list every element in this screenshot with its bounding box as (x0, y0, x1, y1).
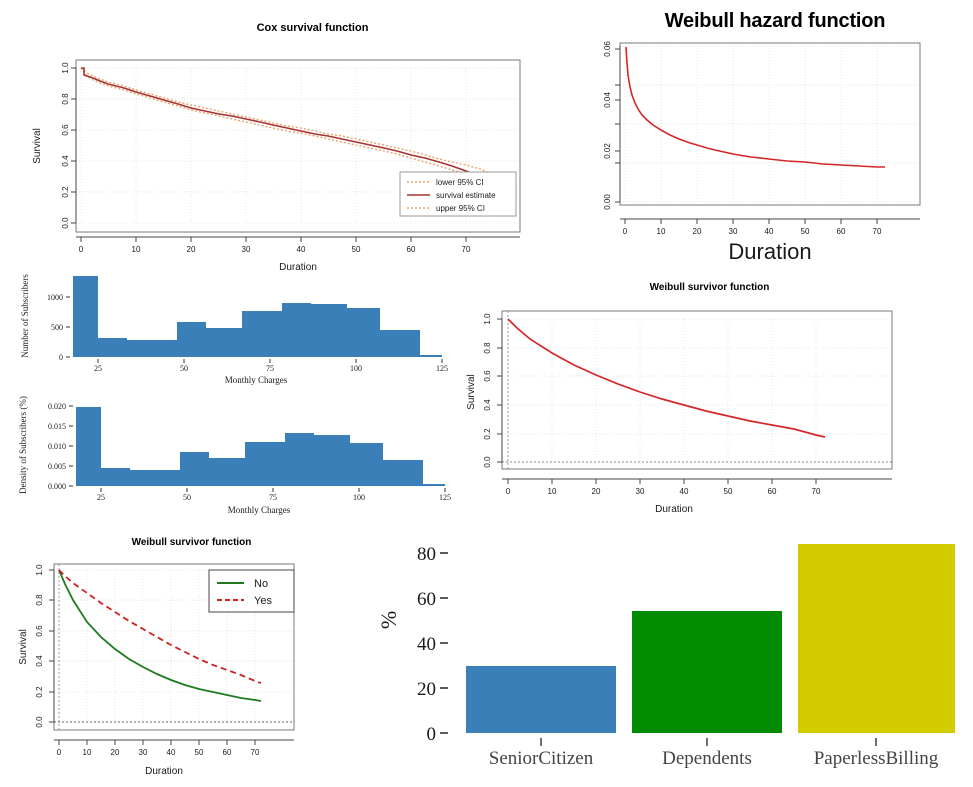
weibull-hazard-title: Weibull hazard function (580, 10, 970, 33)
hist-bar (282, 303, 311, 357)
hist-count-y-axis: 1000 500 0 (47, 293, 70, 362)
panel-cox-survival: Cox survival function lo (60, 14, 565, 279)
weibull-survivor-line (508, 319, 825, 437)
cox-y-axis: 0.0 0.2 0.4 0.6 0.8 1.0 (61, 62, 76, 229)
panel-weibull-survivor-groups: Weibull survivor function No (14, 533, 369, 783)
survivor-xtick-6: 60 (768, 487, 777, 496)
cox-ytick-1: 0.2 (61, 186, 70, 198)
cox-xtick-0: 0 (79, 245, 84, 254)
percent-bar-ylabel: % (376, 611, 401, 629)
survivor-y-axis: 0.0 0.2 0.4 0.6 0.8 1.0 (483, 313, 502, 468)
hazard-gridlines (620, 45, 920, 202)
survivor-xtick-7: 70 (812, 487, 821, 496)
cox-xtick-2: 20 (187, 245, 196, 254)
panel-hist-count: Number of Subscribers 1000 500 0 25 (16, 264, 446, 386)
hist-count-ytick-1: 500 (51, 323, 63, 332)
weibull-survivor-plot: 0.0 0.2 0.4 0.6 0.8 1.0 Survival 0 10 20… (452, 297, 967, 519)
hist-density-xtick-0: 25 (97, 493, 105, 502)
groups-legend-label-0: No (254, 578, 268, 590)
groups-ylabel: Survival (18, 629, 29, 665)
hist-bar (98, 338, 127, 357)
survivor-xtick-3: 30 (636, 487, 645, 496)
hist-count-xtick-3: 100 (350, 364, 362, 373)
cox-xtick-3: 30 (242, 245, 251, 254)
groups-xtick-6: 60 (223, 748, 232, 757)
hazard-xtick-4: 40 (765, 227, 774, 236)
hist-density-xtick-4: 125 (439, 493, 451, 502)
hist-density-ytick-3: 0.015 (48, 422, 66, 431)
cox-legend-label-1: survival estimate (436, 191, 496, 200)
hist-bar (314, 435, 350, 486)
bar-dependents (632, 611, 782, 733)
hazard-xtick-1: 10 (657, 227, 666, 236)
hazard-ytick-2: 0.04 (603, 92, 612, 108)
groups-legend: No Yes (209, 570, 294, 612)
survivor-plot-frame (502, 311, 892, 469)
hist-bar (209, 458, 245, 486)
cox-xtick-4: 40 (297, 245, 306, 254)
hazard-x-axis: 0 10 20 30 40 50 60 70 (620, 219, 920, 236)
hist-density-xtick-3: 100 (353, 493, 365, 502)
cox-survival-estimate-line (81, 68, 490, 178)
groups-ytick-2: 0.4 (35, 655, 44, 667)
hist-density-x-axis: 25 50 75 100 125 (97, 488, 451, 502)
percent-bar-y-axis: 80 60 40 20 0 (417, 544, 448, 745)
percent-cat-1: Dependents (662, 748, 752, 769)
hazard-ytick-3: 0.06 (603, 41, 612, 57)
groups-ytick-3: 0.6 (35, 625, 44, 637)
cox-ylabel: Survival (32, 128, 43, 164)
hist-density-plot: Density of Subscribers (%) 0.020 0.015 0… (16, 390, 446, 516)
hist-density-xlabel: Monthly Charges (228, 505, 291, 515)
percent-cat-0: SeniorCitizen (489, 748, 594, 769)
cox-ytick-2: 0.4 (61, 155, 70, 167)
hist-count-xtick-1: 50 (180, 364, 188, 373)
groups-xtick-7: 70 (251, 748, 260, 757)
hist-count-xtick-4: 125 (436, 364, 448, 373)
survivor-x-axis: 0 10 20 30 40 50 60 70 (502, 479, 892, 496)
groups-ytick-5: 1.0 (35, 564, 44, 576)
panel-weibull-hazard: Weibull hazard function 0.00 0.02 0.04 (580, 8, 970, 270)
hazard-y-axis: 0.00 0.02 0.04 0.06 (603, 41, 620, 210)
survivor-ytick-5: 1.0 (483, 313, 492, 325)
weibull-hazard-plot: 0.00 0.02 0.04 0.06 0 10 20 30 40 50 60 … (580, 37, 970, 262)
groups-xtick-2: 20 (111, 748, 120, 757)
hist-bar (177, 322, 206, 357)
hazard-xtick-6: 60 (837, 227, 846, 236)
cox-legend-label-2: upper 95% CI (436, 204, 485, 213)
cox-survival-plot: lower 95% CI survival estimate upper 95%… (60, 38, 565, 273)
hazard-ytick-1: 0.02 (603, 143, 612, 159)
percent-ytick-3: 60 (417, 589, 436, 610)
cox-x-axis: 0 10 20 30 40 50 60 70 (76, 237, 520, 254)
hist-count-ytick-2: 1000 (47, 293, 63, 302)
survivor-xlabel: Duration (655, 504, 693, 515)
percent-ytick-4: 80 (417, 544, 436, 565)
percent-ytick-1: 20 (417, 679, 436, 700)
hist-bar (245, 442, 285, 486)
survivor-ytick-4: 0.8 (483, 342, 492, 354)
cox-xtick-5: 50 (352, 245, 361, 254)
cox-upper-ci-line (81, 68, 490, 173)
cox-legend: lower 95% CI survival estimate upper 95%… (400, 172, 516, 216)
hazard-xtick-2: 20 (693, 227, 702, 236)
hazard-xtick-3: 30 (729, 227, 738, 236)
groups-xtick-4: 40 (167, 748, 176, 757)
survivor-xtick-5: 50 (724, 487, 733, 496)
cox-xtick-7: 70 (462, 245, 471, 254)
percent-bars (466, 544, 955, 733)
hist-bar (285, 433, 314, 486)
hist-count-xtick-2: 75 (266, 364, 274, 373)
hist-bar (130, 470, 166, 486)
groups-legend-label-1: Yes (254, 595, 272, 607)
hist-density-ytick-1: 0.005 (48, 462, 66, 471)
groups-xlabel: Duration (145, 766, 183, 777)
hist-bar (163, 340, 177, 357)
groups-x-axis: 0 10 20 30 40 50 60 70 (54, 740, 294, 757)
cox-legend-label-0: lower 95% CI (436, 178, 484, 187)
panel-hist-density: Density of Subscribers (%) 0.020 0.015 0… (16, 390, 446, 516)
groups-ytick-1: 0.2 (35, 686, 44, 698)
groups-ytick-4: 0.8 (35, 594, 44, 606)
cox-xtick-6: 60 (407, 245, 416, 254)
hist-density-ytick-2: 0.010 (48, 442, 66, 451)
hist-bar (347, 308, 380, 357)
survivor-gridlines (502, 319, 892, 462)
hist-density-y-axis: 0.020 0.015 0.010 0.005 0.000 (48, 402, 73, 491)
hist-bar (101, 468, 130, 486)
hist-count-x-axis: 25 50 75 100 125 (94, 359, 448, 373)
hist-count-ylabel: Number of Subscribers (20, 274, 30, 358)
hist-bar (350, 443, 383, 486)
bar-senior-citizen (466, 666, 616, 733)
hist-bar (76, 407, 101, 486)
hist-count-ytick-0: 0 (59, 353, 63, 362)
hist-bar (383, 460, 423, 486)
hist-count-xtick-0: 25 (94, 364, 102, 373)
percent-bar-plot: % 80 60 40 20 0 SeniorCitizen Dependents… (378, 522, 968, 772)
hist-bar (127, 340, 163, 357)
hist-bar (206, 328, 242, 357)
groups-ytick-0: 0.0 (35, 716, 44, 728)
hist-bar (423, 484, 445, 486)
hist-bar (380, 330, 420, 357)
hist-bar (311, 304, 347, 357)
hist-bar (73, 276, 98, 357)
hist-bar (242, 311, 282, 357)
groups-xtick-3: 30 (139, 748, 148, 757)
cox-ytick-0: 0.0 (61, 217, 70, 229)
weibull-hazard-line (626, 47, 885, 167)
weibull-survivor-title: Weibull survivor function (452, 282, 967, 293)
survivor-ylabel: Survival (466, 374, 477, 410)
hist-bar (166, 470, 180, 486)
hist-count-plot: Number of Subscribers 1000 500 0 25 (16, 264, 446, 386)
panel-percent-bar: % 80 60 40 20 0 SeniorCitizen Dependents… (378, 522, 968, 772)
hist-density-xtick-2: 75 (269, 493, 277, 502)
survivor-xtick-4: 40 (680, 487, 689, 496)
groups-xtick-0: 0 (57, 748, 62, 757)
hist-count-bars (73, 276, 442, 357)
groups-xtick-5: 50 (195, 748, 204, 757)
survivor-xtick-1: 10 (548, 487, 557, 496)
percent-x-axis: SeniorCitizen Dependents PaperlessBillin… (489, 738, 939, 769)
survivor-xtick-2: 20 (592, 487, 601, 496)
survivor-ytick-0: 0.0 (483, 456, 492, 468)
bar-paperless-billing (798, 544, 955, 733)
groups-xtick-1: 10 (83, 748, 92, 757)
hazard-xtick-0: 0 (623, 227, 628, 236)
hist-bar (420, 355, 442, 357)
weibull-survivor-groups-title: Weibull survivor function (14, 537, 369, 548)
hazard-xlabel: Duration (728, 239, 811, 264)
hazard-ytick-0: 0.00 (603, 194, 612, 210)
hazard-xtick-5: 50 (801, 227, 810, 236)
weibull-survivor-groups-plot: No Yes 0.0 0.2 0.4 0.6 0.8 1.0 Survival … (14, 552, 369, 780)
hazard-xtick-7: 70 (873, 227, 882, 236)
survivor-ytick-1: 0.2 (483, 428, 492, 440)
survivor-ytick-2: 0.4 (483, 399, 492, 411)
groups-y-axis: 0.0 0.2 0.4 0.6 0.8 1.0 (35, 564, 54, 728)
hist-bar (180, 452, 209, 486)
cox-ytick-4: 0.8 (61, 93, 70, 105)
hist-density-xtick-1: 50 (183, 493, 191, 502)
cox-xtick-1: 10 (132, 245, 141, 254)
cox-ytick-5: 1.0 (61, 62, 70, 74)
hist-density-ytick-4: 0.020 (48, 402, 66, 411)
cox-survival-title: Cox survival function (60, 22, 565, 34)
hist-count-xlabel: Monthly Charges (225, 375, 288, 385)
cox-ytick-3: 0.6 (61, 124, 70, 136)
panel-weibull-survivor: Weibull survivor function 0.0 0.2 0.4 (452, 278, 967, 523)
survivor-ytick-3: 0.6 (483, 370, 492, 382)
survivor-xtick-0: 0 (506, 487, 511, 496)
hist-density-bars (76, 407, 445, 486)
percent-ytick-2: 40 (417, 634, 436, 655)
percent-ytick-0: 0 (427, 724, 437, 745)
hist-density-ylabel: Density of Subscribers (%) (18, 396, 28, 494)
hist-density-ytick-0: 0.000 (48, 482, 66, 491)
percent-cat-2: PaperlessBilling (814, 748, 939, 769)
cox-lower-ci-line (81, 68, 490, 181)
